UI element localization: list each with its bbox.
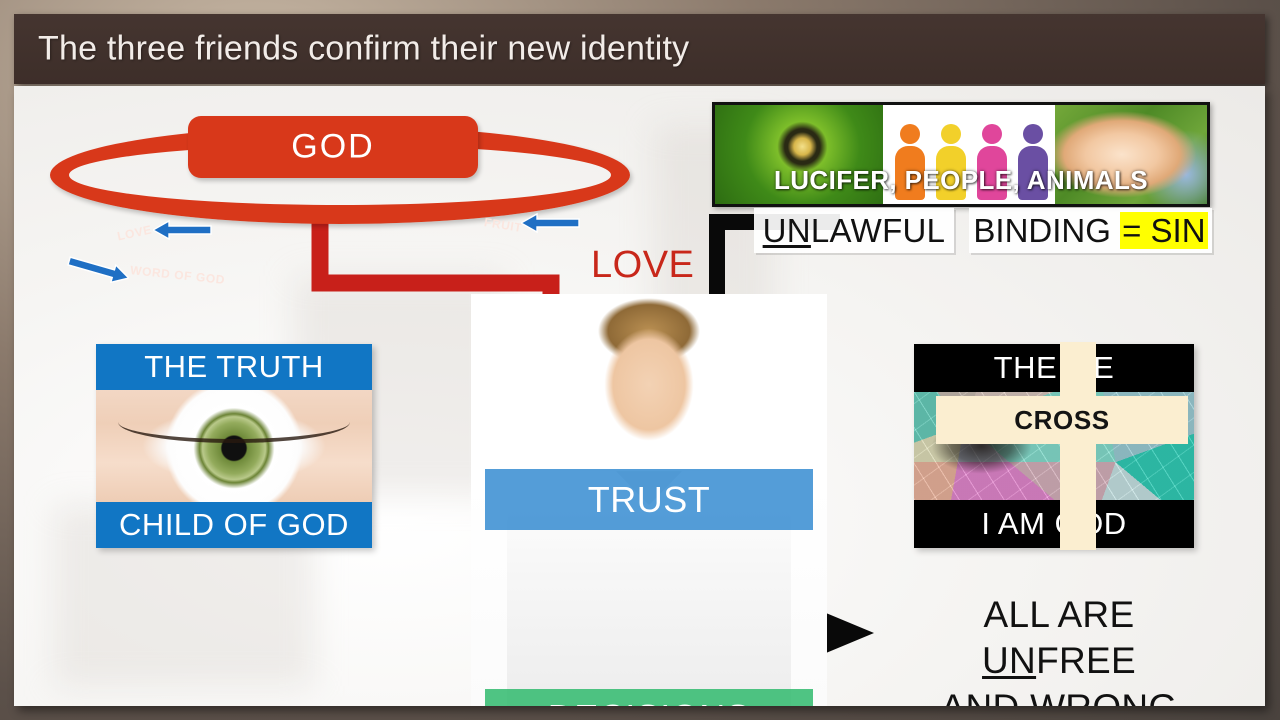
decisions-label: DECISIONS (548, 697, 751, 707)
lucifer-people-animals-strip: LUCIFER, PEOPLE, ANIMALS (712, 102, 1210, 207)
trust-label: TRUST (588, 479, 711, 521)
binding-label: BINDING = SIN (973, 212, 1207, 250)
verdict-prefix: ALL ARE (984, 594, 1135, 635)
truth-block: THE TRUTH CHILD OF GOD (96, 344, 372, 548)
cycle-label-word-of-god: WORD OF GOD (130, 263, 226, 287)
slide: The three friends confirm their new iden… (0, 0, 1280, 720)
truth-top-label: THE TRUTH (144, 349, 324, 385)
decisions-band: DECISIONS (485, 689, 813, 706)
slide-header: The three friends confirm their new iden… (14, 14, 1265, 84)
verdict-text: ALL ARE UNFREE AND WRONG (904, 592, 1214, 706)
truth-bottom-band: CHILD OF GOD (96, 502, 372, 548)
lie-bottom-label: I AM GOD (981, 506, 1126, 542)
blue-arrow-fruit-icon (521, 212, 581, 234)
green-eye-photo (96, 390, 372, 502)
slide-canvas: GOD LOVE FRUIT WORD OF GOD (14, 86, 1265, 706)
unlawful-suffix: LAWFUL (811, 212, 945, 249)
binding-word: BINDING (973, 212, 1120, 249)
lie-top-label: THE LIE (994, 350, 1115, 386)
truth-top-band: THE TRUTH (96, 344, 372, 390)
trust-band: TRUST (485, 469, 813, 530)
lie-top-band: THE LIE (914, 344, 1194, 392)
verdict-line-2: AND WRONG (904, 685, 1214, 707)
cross-vertical-bar (1060, 342, 1096, 550)
god-label: GOD (188, 128, 478, 167)
cycle-label-fruit: FRUIT (483, 215, 523, 235)
unlawful-label-box: UNLAWFUL (754, 208, 954, 253)
verdict-underlined: UN (982, 640, 1036, 681)
cross-label: CROSS (1014, 405, 1109, 436)
cross-horizontal-bar: CROSS (936, 396, 1188, 444)
blue-arrow-right-icon (62, 249, 132, 288)
sin-highlight: = SIN (1120, 212, 1207, 249)
unlawful-prefix: UN (763, 212, 811, 249)
verdict-line-1: ALL ARE UNFREE (904, 592, 1214, 685)
center-block: TRUST DECISIONS (471, 294, 827, 706)
truth-bottom-label: CHILD OF GOD (119, 507, 349, 543)
strip-caption: LUCIFER, PEOPLE, ANIMALS (715, 165, 1207, 196)
god-box: GOD (188, 116, 478, 178)
page-title: The three friends confirm their new iden… (38, 30, 689, 69)
lie-block: THE LIE I AM GOD CROSS (914, 344, 1194, 548)
cycle-label-love: LOVE (116, 223, 153, 244)
binding-label-box: BINDING = SIN (969, 208, 1212, 253)
unlawful-label: UNLAWFUL (763, 212, 946, 250)
love-caption: LOVE (591, 244, 694, 287)
blue-arrow-left-icon (153, 219, 213, 241)
verdict-suffix: FREE (1036, 640, 1136, 681)
lie-bottom-band: I AM GOD (914, 500, 1194, 548)
